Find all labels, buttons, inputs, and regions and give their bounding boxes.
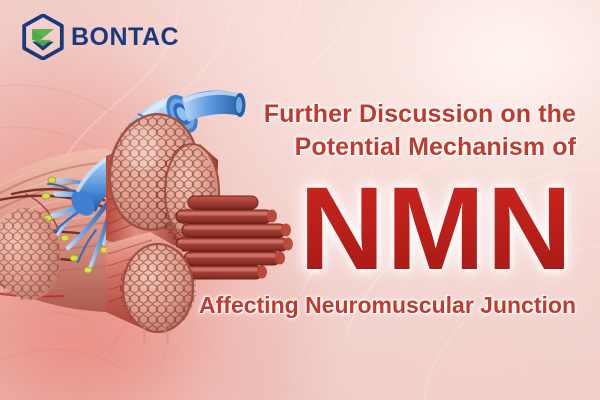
headline-line-1: Further Discussion on the	[156, 98, 576, 131]
bontac-nmn-article-banner: BONTAC	[0, 0, 600, 400]
bontac-hexagon-logo-icon	[22, 14, 64, 60]
bontac-logo[interactable]: BONTAC	[22, 14, 179, 60]
hero-title-block: NMN	[154, 178, 574, 282]
headline-block: Further Discussion on the Potential Mech…	[156, 98, 576, 164]
bontac-wordmark: BONTAC	[71, 25, 179, 50]
headline-line-2: Potential Mechanism of	[156, 131, 576, 164]
subheadline-block: Affecting Neuromuscular Junction	[146, 292, 576, 320]
subheadline-line-1: Affecting Neuromuscular Junction	[146, 292, 576, 320]
hero-title-nmn: NMN	[299, 178, 574, 282]
